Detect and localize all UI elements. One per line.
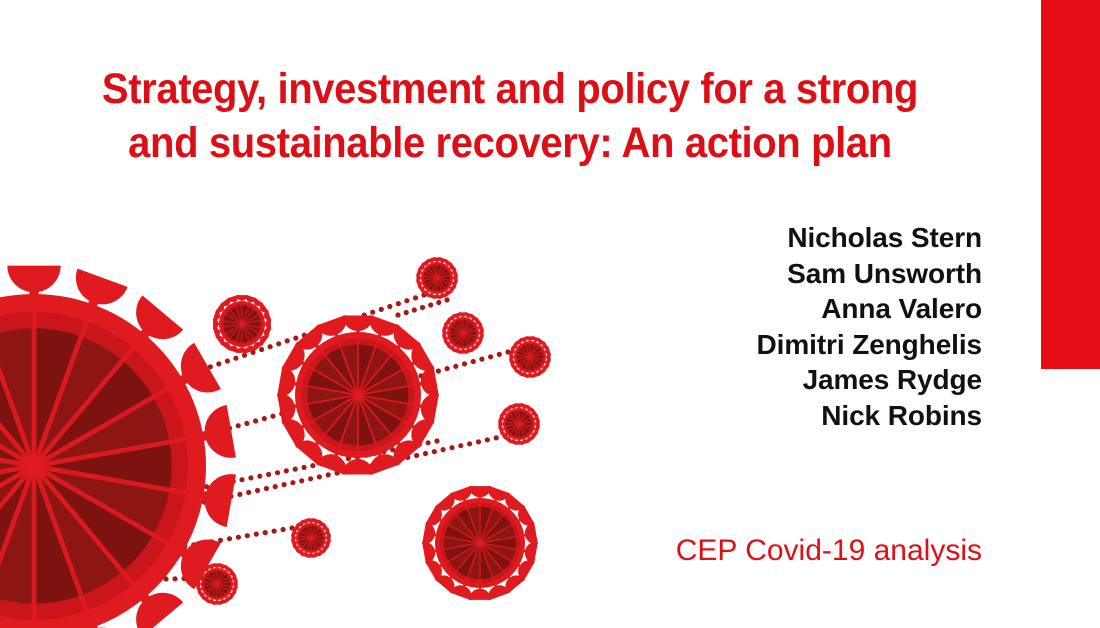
virus-trail [127, 575, 204, 582]
virus-particle [442, 312, 484, 354]
author-name-3: Anna Valero [757, 291, 982, 327]
virus-particle [277, 315, 439, 475]
poster-canvas: Strategy, investment and policy for a st… [0, 0, 1100, 628]
author-name-1: Nicholas Stern [757, 220, 982, 256]
author-name-6: Nick Robins [757, 398, 982, 434]
series-label: CEP Covid-19 analysis [676, 533, 982, 569]
virus-particle [422, 486, 538, 600]
virus-particle [213, 295, 271, 353]
virus-trail [155, 525, 294, 553]
virus-particle [291, 518, 331, 558]
page-title: Strategy, investment and policy for a st… [0, 62, 1020, 170]
author-name-5: James Rydge [757, 362, 982, 398]
author-list: Nicholas Stern Sam Unsworth Anna Valero … [757, 220, 982, 433]
virus-particle [196, 563, 238, 605]
virus-trail [175, 433, 507, 510]
virus-particle [0, 266, 236, 628]
accent-bar [1041, 0, 1100, 369]
virus-trail [395, 297, 449, 317]
virus-particle [498, 403, 540, 445]
author-name-2: Sam Unsworth [757, 256, 982, 292]
virus-trail [156, 292, 426, 386]
author-name-4: Dimitri Zenghelis [757, 327, 982, 363]
virus-trail [177, 438, 439, 494]
virus-particle [509, 336, 551, 378]
title-line-1: Strategy, investment and policy for a st… [36, 62, 985, 116]
title-line-2: and sustainable recovery: An action plan [36, 116, 985, 170]
virus-particle [416, 257, 458, 299]
virus-trail [183, 349, 510, 442]
